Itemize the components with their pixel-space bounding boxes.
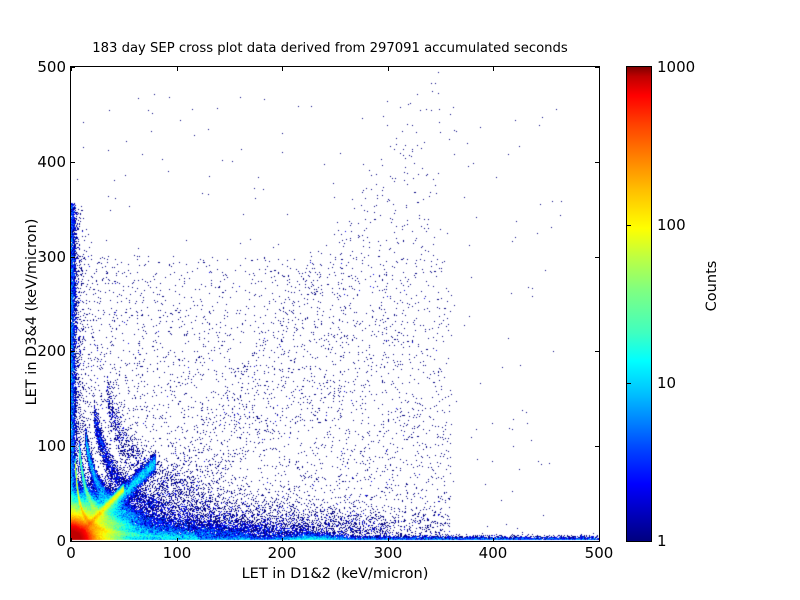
x-tick-mark-top <box>388 67 389 71</box>
x-tick-mark <box>388 538 389 542</box>
y-tick-mark <box>71 162 75 163</box>
colorbar-tick-label: 1 <box>657 534 667 549</box>
x-tick-mark-top <box>599 67 600 71</box>
y-tick-label: 500 <box>37 60 66 75</box>
colorbar-gradient <box>626 66 652 542</box>
x-tick-label: 300 <box>358 546 418 561</box>
figure-canvas: 183 day SEP cross plot data derived from… <box>0 0 800 600</box>
y-tick-mark <box>71 257 75 258</box>
y-tick-label: 300 <box>37 250 66 265</box>
colorbar: 1101001000 <box>626 66 652 542</box>
x-tick-mark-top <box>493 67 494 71</box>
x-tick-label: 0 <box>41 546 101 561</box>
colorbar-tick-mark <box>626 383 631 384</box>
chart-title-line-1: 183 day SEP cross plot data derived from… <box>0 40 660 57</box>
plot-area <box>70 66 600 542</box>
y-tick-mark-right <box>595 351 599 352</box>
x-tick-mark <box>599 538 600 542</box>
x-tick-label: 500 <box>569 546 629 561</box>
x-tick-label: 400 <box>463 546 523 561</box>
colorbar-tick-label: 1000 <box>657 60 695 75</box>
x-tick-mark <box>71 538 72 542</box>
x-tick-mark-top <box>282 67 283 71</box>
colorbar-tick-mark <box>626 225 631 226</box>
colorbar-tick-label: 100 <box>657 218 686 233</box>
y-tick-mark <box>71 351 75 352</box>
x-tick-label: 200 <box>252 546 312 561</box>
colorbar-tick-label: 10 <box>657 376 676 391</box>
y-tick-mark <box>71 446 75 447</box>
y-tick-mark-right <box>595 162 599 163</box>
y-axis-label: LET in D3&4 (keV/micron) <box>24 172 40 452</box>
x-tick-mark <box>282 538 283 542</box>
x-tick-mark <box>493 538 494 542</box>
x-axis-label: LET in D1&2 (keV/micron) <box>70 566 600 582</box>
x-tick-mark <box>177 538 178 542</box>
y-tick-label: 400 <box>37 155 66 170</box>
x-tick-mark-top <box>71 67 72 71</box>
y-tick-label: 200 <box>37 344 66 359</box>
y-tick-label: 100 <box>37 439 66 454</box>
scatter-density-plot <box>71 67 599 541</box>
x-tick-label: 100 <box>147 546 207 561</box>
y-tick-mark-right <box>595 257 599 258</box>
y-tick-mark-right <box>595 446 599 447</box>
x-tick-mark-top <box>177 67 178 71</box>
colorbar-label: Counts <box>704 196 720 376</box>
